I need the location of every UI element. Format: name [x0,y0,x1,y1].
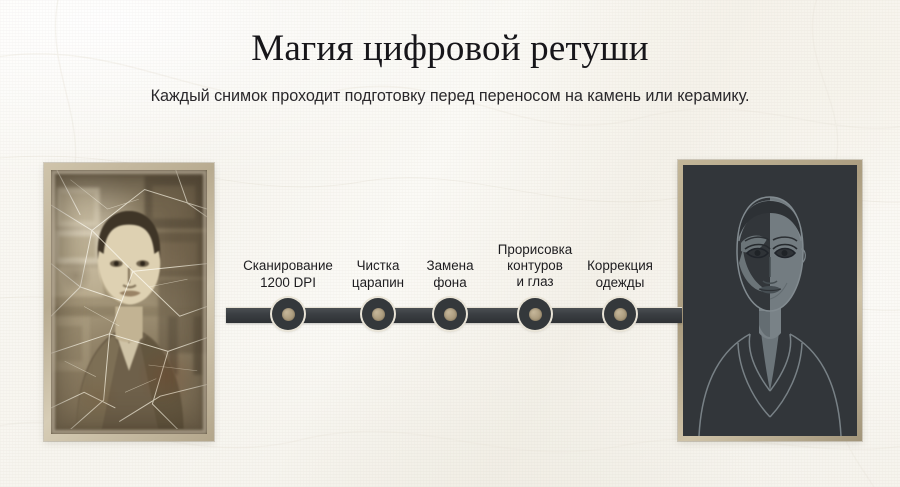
timeline-label-4-line-1: Прорисовка [498,242,572,258]
timeline-node-2[interactable] [362,298,394,330]
timeline-label-5-line-1: Коррекция [587,258,653,274]
timeline-label-4: Прорисовкаконтурови глаз [498,242,572,291]
timeline-node-4[interactable] [519,298,551,330]
timeline-label-3: Заменафона [426,258,473,291]
before-photo-frame [44,163,214,441]
process-timeline [226,298,682,330]
timeline-label-5: Коррекцияодежды [587,258,653,291]
timeline-label-1-line-2: 1200 DPI [243,275,333,291]
after-photo [683,165,857,436]
timeline-label-5-line-2: одежды [587,275,653,291]
timeline-node-3[interactable] [434,298,466,330]
timeline-label-2-line-2: царапин [352,275,404,291]
page-subtitle: Каждый снимок проходит подготовку перед … [0,86,900,107]
dark-portrait-scene [683,165,857,436]
timeline-node-5[interactable] [604,298,636,330]
timeline-label-3-line-2: фона [426,275,473,291]
after-photo-frame [678,160,862,441]
page-title: Магия цифровой ретуши [0,28,900,70]
sepia-crack-overlay [51,170,207,429]
timeline-label-2: Чисткацарапин [352,258,404,291]
before-photo [51,170,207,434]
timeline-label-4-line-3: и глаз [498,274,572,290]
sepia-scene [51,170,207,434]
timeline-node-1[interactable] [272,298,304,330]
timeline-label-1-line-1: Сканирование [243,258,333,274]
slide-canvas: Магия цифровой ретуши Каждый снимок прох… [0,0,900,487]
timeline-label-1: Сканирование1200 DPI [243,258,333,291]
timeline-label-3-line-1: Замена [426,258,473,274]
timeline-label-4-line-2: контуров [498,258,572,274]
restored-portrait-artwork [683,165,857,436]
timeline-label-2-line-1: Чистка [352,258,404,274]
